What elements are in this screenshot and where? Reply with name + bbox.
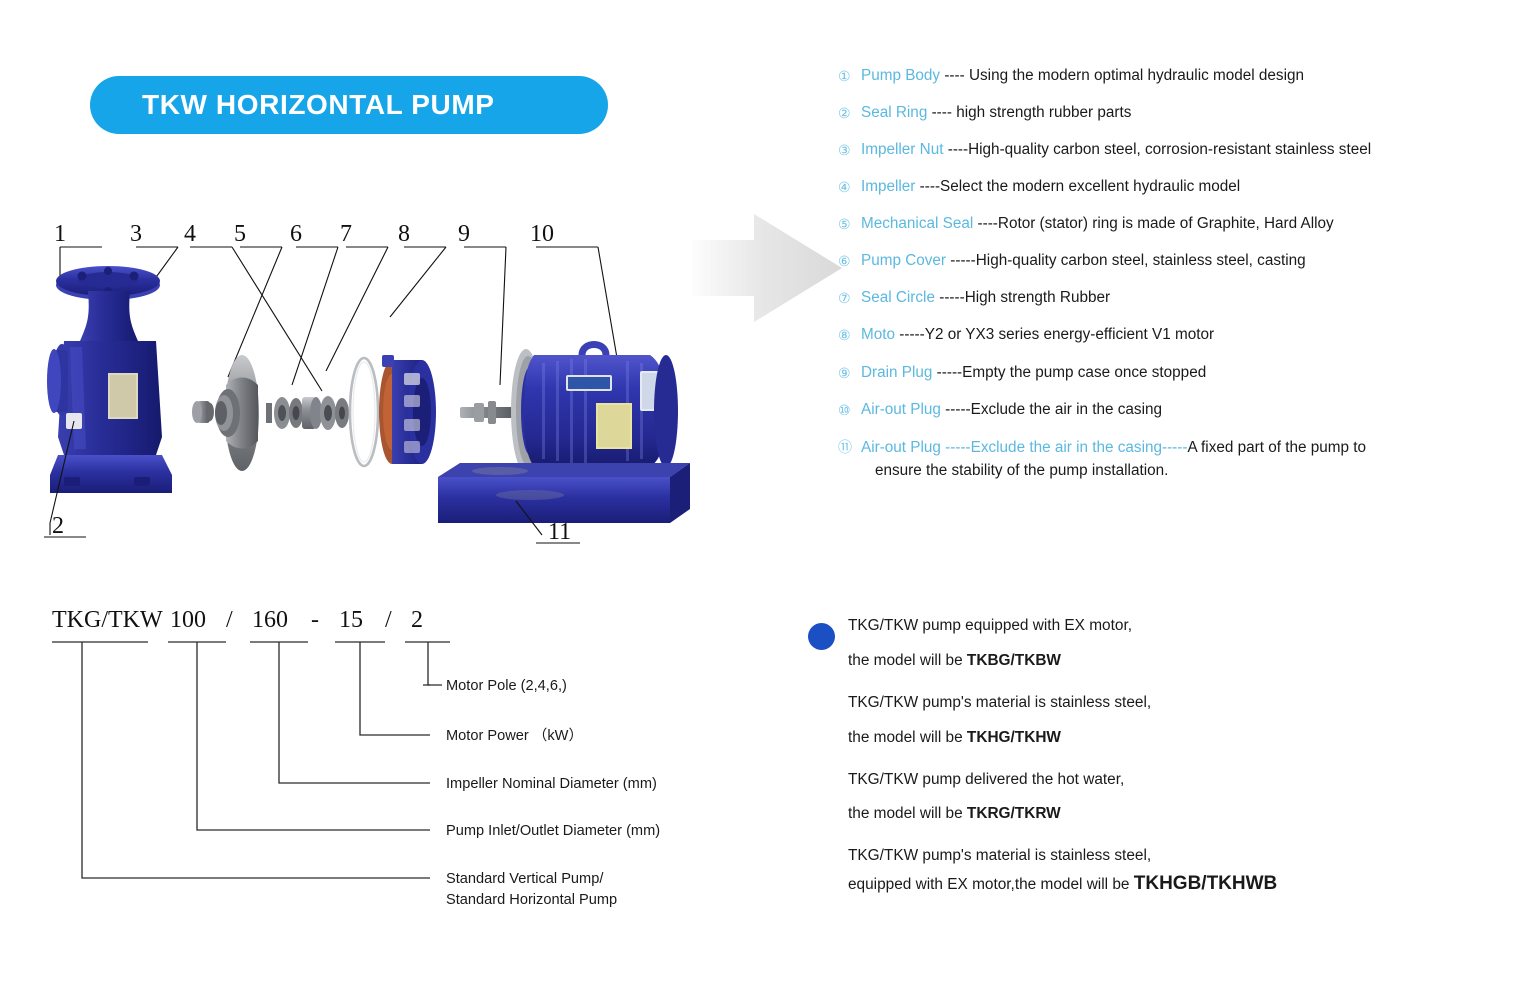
exploded-pump-diagram: 1 3 4 5 6 7 8 9 10	[30, 205, 690, 575]
legend-part-name: Impeller	[861, 178, 915, 195]
model-variant-notes: TKG/TKW pump equipped with EX motor, the…	[808, 615, 1448, 918]
code-label-motor-power: Motor Power （kW）	[446, 727, 583, 744]
base-plate-part	[438, 463, 690, 523]
note-line: TKG/TKW pump's material is stainless ste…	[848, 692, 1448, 714]
legend-description: Using the modern optimal hydraulic model…	[969, 67, 1304, 84]
note-model-code: TKRG/TKRW	[967, 805, 1061, 822]
legend-item-8: ⑧ Moto -----Y2 or YX3 series energy-effi…	[838, 325, 1508, 345]
legend-part-name: Pump Cover	[861, 252, 946, 269]
legend-description-line2: ensure the stability of the pump install…	[861, 460, 1366, 483]
legend-separator: -----	[935, 289, 965, 306]
note-line: the model will be TKBG/TKBW	[848, 650, 1448, 672]
note-model-code: TKBG/TKBW	[967, 652, 1061, 669]
note-text: the model will be	[848, 729, 967, 746]
code-label-std-vertical: Standard Vertical Pump/	[446, 871, 604, 887]
legend-description-cyan: Exclude the air in the casing-----	[971, 439, 1188, 456]
legend-number-icon: ②	[838, 103, 861, 122]
legend-separator: ----	[973, 215, 998, 232]
flow-arrow-icon	[692, 212, 842, 324]
note-line: TKG/TKW pump's material is stainless ste…	[848, 845, 1448, 867]
legend-number-icon: ③	[838, 140, 861, 159]
legend-separator: -----	[932, 364, 962, 381]
legend-part-name: Seal Circle	[861, 289, 935, 306]
legend-separator: -----	[941, 439, 971, 456]
note-line: equipped with EX motor,the model will be…	[848, 871, 1448, 898]
impeller-part	[215, 355, 259, 471]
callout-numbers-top: 1 3 4 5 6 7 8 9 10	[54, 221, 554, 247]
code-segment-power: 15	[339, 607, 363, 633]
callout-number-9: 9	[458, 221, 470, 247]
code-segment-inlet: 100	[170, 607, 206, 633]
legend-item-9: ⑨ Drain Plug -----Empty the pump case on…	[838, 363, 1508, 383]
legend-separator: ----	[915, 178, 940, 195]
code-labels: Motor Pole (2,4,6,) Motor Power （kW） Imp…	[446, 678, 660, 908]
legend-number-icon: ①	[838, 66, 861, 85]
parts-legend-list: ① Pump Body ---- Using the modern optima…	[838, 66, 1508, 500]
impeller-nut-part	[192, 401, 214, 423]
callout-number-1: 1	[54, 221, 66, 247]
legend-number-icon: ④	[838, 177, 861, 196]
legend-part-name: Pump Body	[861, 67, 940, 84]
legend-description: Exclude the air in the casing	[971, 401, 1162, 418]
legend-item-1: ① Pump Body ---- Using the modern optima…	[838, 66, 1508, 86]
code-label-std-horizontal: Standard Horizontal Pump	[446, 892, 617, 908]
legend-number-icon: ⑨	[838, 363, 861, 382]
legend-description: Select the modern excellent hydraulic mo…	[940, 178, 1240, 195]
note-model-code: TKHGB/TKHWB	[1134, 873, 1278, 894]
legend-number-icon: ⑩	[838, 400, 861, 419]
legend-part-name: Air-out Plug	[861, 439, 941, 456]
legend-part-name: Moto	[861, 326, 895, 343]
pump-cover-part	[379, 355, 436, 464]
legend-part-name: Mechanical Seal	[861, 215, 973, 232]
note-paragraph-ex-motor: TKG/TKW pump equipped with EX motor, the…	[848, 615, 1448, 672]
code-label-inlet-dia: Pump Inlet/Outlet Diameter (mm)	[446, 823, 660, 839]
legend-description: High strength Rubber	[965, 289, 1110, 306]
code-segment-impeller: 160	[252, 607, 288, 633]
legend-description: High-quality carbon steel, corrosion-res…	[968, 141, 1371, 158]
legend-description: Y2 or YX3 series energy-efficient V1 mot…	[925, 326, 1214, 343]
callout-number-3: 3	[130, 221, 142, 247]
note-line: the model will be TKRG/TKRW	[848, 803, 1448, 825]
legend-separator: ----	[927, 104, 956, 121]
legend-item-5: ⑤ Mechanical Seal ----Rotor (stator) rin…	[838, 214, 1508, 234]
poster-root: TKW HORIZONTAL PUMP	[0, 0, 1513, 1000]
legend-item-10: ⑩ Air-out Plug -----Exclude the air in t…	[838, 400, 1508, 420]
code-bracket-lines	[52, 642, 450, 878]
legend-separator: ----	[940, 67, 969, 84]
note-paragraph-stainless-ex: TKG/TKW pump's material is stainless ste…	[848, 845, 1448, 898]
bullet-dot-icon	[808, 623, 835, 650]
legend-description: high strength rubber parts	[956, 104, 1131, 121]
legend-number-icon: ⑪	[838, 437, 861, 456]
legend-description: High-quality carbon steel, stainless ste…	[976, 252, 1306, 269]
code-dash: -	[311, 607, 319, 633]
code-label-motor-pole: Motor Pole (2,4,6,)	[446, 678, 567, 694]
note-line: TKG/TKW pump delivered the hot water,	[848, 769, 1448, 791]
title-banner: TKW HORIZONTAL PUMP	[90, 76, 608, 134]
callout-number-6: 6	[290, 221, 302, 247]
legend-part-name: Impeller Nut	[861, 141, 943, 158]
legend-separator: -----	[941, 401, 971, 418]
legend-item-3: ③ Impeller Nut ----High-quality carbon s…	[838, 140, 1508, 160]
legend-description: Rotor (stator) ring is made of Graphite,…	[998, 215, 1334, 232]
legend-item-2: ② Seal Ring ---- high strength rubber pa…	[838, 103, 1508, 123]
seal-circle-part	[350, 358, 378, 466]
legend-part-name: Seal Ring	[861, 104, 927, 121]
legend-separator: -----	[946, 252, 976, 269]
legend-item-4: ④ Impeller ----Select the modern excelle…	[838, 177, 1508, 197]
legend-description: Empty the pump case once stopped	[962, 364, 1206, 381]
legend-description: A fixed part of the pump to	[1187, 439, 1366, 456]
page-title: TKW HORIZONTAL PUMP	[90, 89, 495, 121]
legend-number-icon: ⑥	[838, 251, 861, 270]
legend-part-name: Air-out Plug	[861, 401, 941, 418]
code-segment-pole: 2	[411, 607, 423, 633]
legend-number-icon: ⑤	[838, 214, 861, 233]
legend-item-7: ⑦ Seal Circle -----High strength Rubber	[838, 288, 1508, 308]
legend-item-11: ⑪ Air-out Plug -----Exclude the air in t…	[838, 437, 1508, 483]
pump-body-assembly	[47, 266, 172, 493]
callout-number-4: 4	[184, 221, 196, 247]
callout-number-5: 5	[234, 221, 246, 247]
legend-number-icon: ⑦	[838, 288, 861, 307]
code-slash-2: /	[385, 607, 392, 633]
code-slash-1: /	[226, 607, 233, 633]
callout-number-11: 11	[548, 519, 571, 545]
mechanical-seal-parts	[266, 396, 349, 430]
note-paragraph-hot-water: TKG/TKW pump delivered the hot water, th…	[848, 769, 1448, 826]
note-line: TKG/TKW pump equipped with EX motor,	[848, 615, 1448, 637]
code-label-impeller-dia: Impeller Nominal Diameter (mm)	[446, 776, 657, 792]
legend-part-name: Drain Plug	[861, 364, 932, 381]
code-segment-series: TKG/TKW	[52, 607, 163, 633]
callout-number-7: 7	[340, 221, 352, 247]
legend-number-icon: ⑧	[838, 325, 861, 344]
callout-number-8: 8	[398, 221, 410, 247]
legend-separator: -----	[895, 326, 925, 343]
note-model-code: TKHG/TKHW	[967, 729, 1061, 746]
callout-number-10: 10	[530, 221, 554, 247]
note-text: the model will be	[848, 805, 967, 822]
note-line: the model will be TKHG/TKHW	[848, 727, 1448, 749]
legend-separator: ----	[943, 141, 968, 158]
model-code-string: TKG/TKW 100 / 160 - 15 / 2	[52, 607, 423, 633]
note-text: equipped with EX motor,the model will be	[848, 876, 1134, 893]
model-code-breakdown: TKG/TKW 100 / 160 - 15 / 2	[30, 595, 730, 965]
legend-item-6: ⑥ Pump Cover -----High-quality carbon st…	[838, 251, 1508, 271]
note-text: the model will be	[848, 652, 967, 669]
note-paragraph-stainless: TKG/TKW pump's material is stainless ste…	[848, 692, 1448, 749]
callout-number-2: 2	[52, 513, 64, 539]
